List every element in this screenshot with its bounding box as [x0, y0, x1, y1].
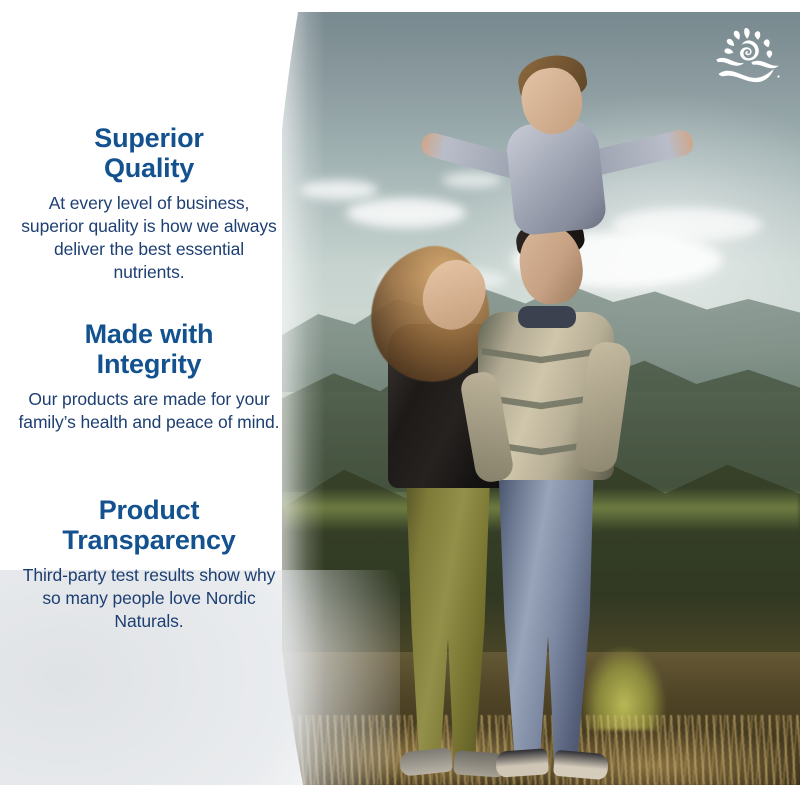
feature-heading-line2: Integrity: [97, 349, 202, 379]
feature-block-product-transparency: Product Transparency Third-party test re…: [18, 496, 280, 633]
woman-shoe-left: [399, 747, 453, 776]
feature-body: Our products are made for your family’s …: [18, 388, 280, 434]
feature-block-superior-quality: Superior Quality At every level of busin…: [18, 124, 280, 284]
nordic-naturals-sun-wave-logo: [710, 26, 784, 88]
marketing-banner: Superior Quality At every level of busin…: [0, 0, 800, 800]
feature-heading-line1: Product: [99, 495, 200, 525]
man-shoe-left: [495, 748, 549, 778]
feature-heading: Product Transparency: [18, 496, 280, 556]
feature-heading-line2: Quality: [104, 153, 194, 183]
man-shoe-right: [553, 750, 609, 781]
feature-text-column: Superior Quality At every level of busin…: [18, 0, 280, 800]
man-collar: [518, 306, 576, 328]
woman-legs: [400, 470, 496, 760]
feature-heading-line1: Superior: [94, 123, 203, 153]
feature-block-made-with-integrity: Made with Integrity Our products are mad…: [18, 320, 280, 434]
feature-heading: Superior Quality: [18, 124, 280, 184]
feature-body: At every level of business, superior qua…: [18, 192, 280, 284]
family-figures: [282, 12, 800, 785]
feature-heading-line1: Made with: [85, 319, 214, 349]
family-on-mountain-ridge-photo: [282, 12, 800, 785]
feature-body: Third-party test results show why so man…: [18, 564, 280, 633]
man-jeans: [494, 462, 598, 762]
sun-wave-icon: [710, 26, 784, 88]
child-hoodie: [505, 117, 608, 236]
feature-heading-line2: Transparency: [62, 525, 235, 555]
feature-heading: Made with Integrity: [18, 320, 280, 380]
